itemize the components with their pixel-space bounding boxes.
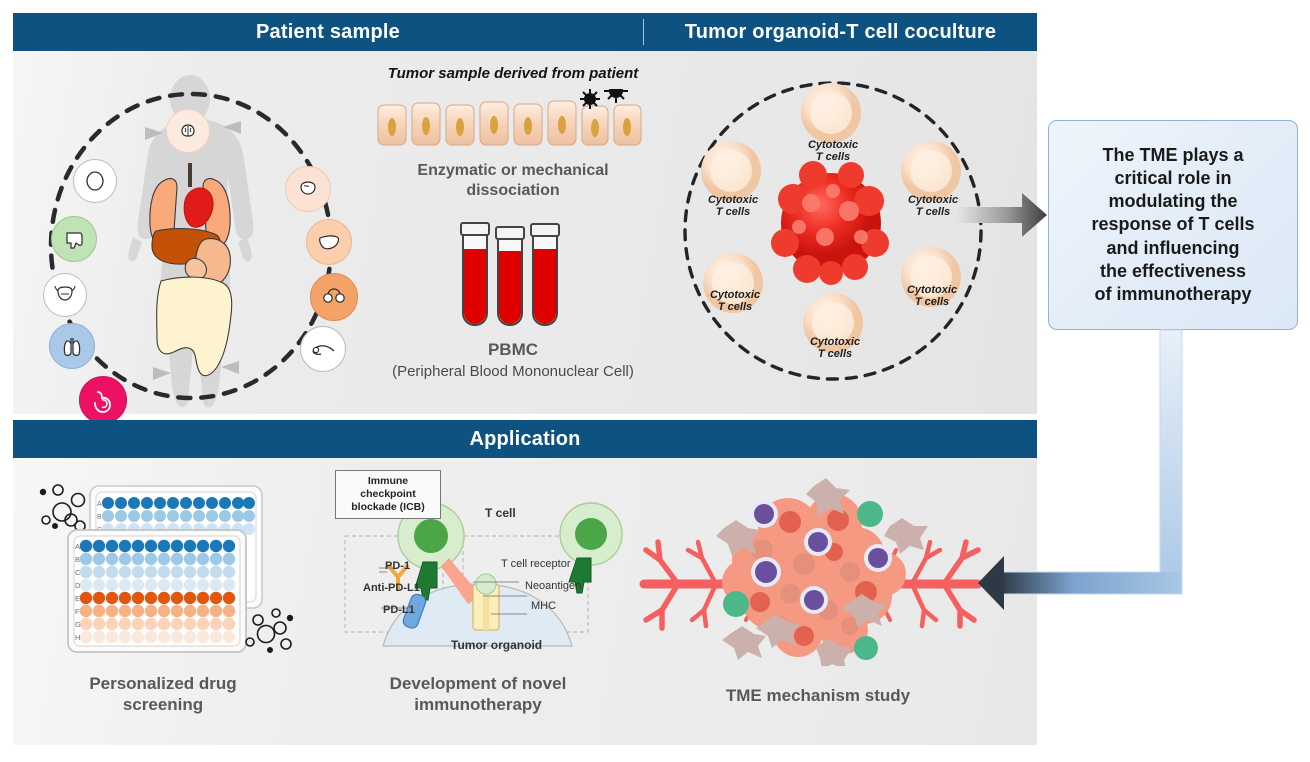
caption-development-novel-immunotherapy: Development of novel immunotherapy xyxy=(348,674,608,715)
label-anti-pdl1: Anti-PD-L1 xyxy=(363,582,420,594)
panel-application: ABC xyxy=(13,458,1037,745)
svg-text:A: A xyxy=(97,501,102,508)
header-patient-sample: Patient sample xyxy=(13,13,643,51)
bubbles-decoration xyxy=(41,485,85,531)
cytotoxic-t-cell-label: Cytotoxic T cells xyxy=(788,139,878,164)
label-tumor-organoid: Tumor organoid xyxy=(451,638,542,652)
pbmc-blood-tubes xyxy=(443,219,583,339)
label-pdl1: PD-L1 xyxy=(383,604,415,616)
well-plate-front: AB CD EF GH xyxy=(68,530,246,652)
bubbles-decoration xyxy=(246,609,292,652)
organ-icon-kidney[interactable] xyxy=(73,159,117,203)
epithelial-cell-row xyxy=(368,89,658,157)
label-mhc: MHC xyxy=(531,600,556,612)
cytotoxic-t-cell xyxy=(901,141,961,201)
colon-icon xyxy=(61,226,87,252)
brain-icon xyxy=(175,118,201,144)
svg-text:C: C xyxy=(75,568,81,577)
svg-text:A: A xyxy=(75,542,80,551)
liver-icon xyxy=(316,230,342,254)
cytotoxic-t-cell xyxy=(801,83,861,143)
figure-canvas: Patient sample Tumor organoid-T cell coc… xyxy=(0,0,1310,762)
breast-icon xyxy=(295,177,321,201)
label-pd1: PD-1 xyxy=(385,560,410,572)
stomach-icon xyxy=(89,386,117,414)
blood-tube xyxy=(531,224,559,325)
organ-icon-colon[interactable] xyxy=(51,216,97,262)
organ-icon-brain[interactable] xyxy=(166,109,210,153)
cytotoxic-t-cell-label: Cytotoxic T cells xyxy=(790,336,880,361)
cytotoxic-t-cell-label: Cytotoxic T cells xyxy=(690,289,780,314)
organ-icon-breast[interactable] xyxy=(285,166,331,212)
tumor-organoid xyxy=(771,161,889,285)
dissociation-label: Enzymatic or mechanical dissociation xyxy=(368,161,658,200)
svg-text:E: E xyxy=(75,594,80,603)
svg-text:H: H xyxy=(75,633,80,642)
header-coculture: Tumor organoid-T cell coculture xyxy=(644,13,1037,51)
svg-text:G: G xyxy=(75,620,81,629)
label-neoantigen: Neoantigen xyxy=(525,580,581,592)
organ-icon-ovary[interactable] xyxy=(310,273,358,321)
blood-tube xyxy=(461,223,489,325)
svg-text:B: B xyxy=(97,514,102,521)
well-plate-illustration: ABC xyxy=(18,468,308,663)
kidney-icon xyxy=(83,168,107,194)
svg-text:D: D xyxy=(75,581,81,590)
tumor-sample-title: Tumor sample derived from patient xyxy=(368,65,658,83)
panel-patient-sample-coculture: Tumor sample derived from patient xyxy=(13,51,1037,414)
lung-icon xyxy=(59,333,85,359)
tme-mechanism-illustration xyxy=(638,476,998,666)
pancreas-icon xyxy=(309,337,337,361)
cytotoxic-t-cell-label: Cytotoxic T cells xyxy=(887,284,977,309)
organ-icon-pancreas[interactable] xyxy=(300,326,346,372)
caption-tme-mechanism-study: TME mechanism study xyxy=(683,686,953,707)
pbmc-expansion-label: (Peripheral Blood Mononuclear Cell) xyxy=(343,363,683,381)
tme-callout-text: The TME plays a critical role in modulat… xyxy=(1091,144,1254,305)
label-t-cell-receptor: T cell receptor xyxy=(501,558,571,570)
organ-icon-stomach[interactable] xyxy=(79,376,127,424)
pbmc-label: PBMC xyxy=(383,340,643,361)
header-bar-application: Application xyxy=(13,420,1037,458)
cytotoxic-t-cell-label: Cytotoxic T cells xyxy=(888,194,978,219)
caption-personalized-drug-screening: Personalized drug screening xyxy=(53,674,273,715)
header-bar-top: Patient sample Tumor organoid-T cell coc… xyxy=(13,13,1037,51)
svg-text:F: F xyxy=(75,607,80,616)
tme-callout-box: The TME plays a critical role in modulat… xyxy=(1048,120,1298,330)
icb-callout-box: Immune checkpoint blockade (ICB) xyxy=(335,470,441,519)
neoantigen-icon xyxy=(476,574,496,594)
svg-text:B: B xyxy=(75,555,80,564)
header-application: Application xyxy=(13,420,1037,458)
label-tcell: T cell xyxy=(485,506,516,520)
cytotoxic-t-cell xyxy=(701,141,761,201)
organ-icon-liver[interactable] xyxy=(306,219,352,265)
cytotoxic-t-cell-label: Cytotoxic T cells xyxy=(688,194,778,219)
organ-icon-lung[interactable] xyxy=(49,323,95,369)
epithelial-cells xyxy=(378,101,641,145)
blood-tube xyxy=(496,227,524,325)
organ-icon-bladder[interactable] xyxy=(43,273,87,317)
bladder-icon xyxy=(52,283,78,307)
ovary-icon xyxy=(320,284,348,310)
